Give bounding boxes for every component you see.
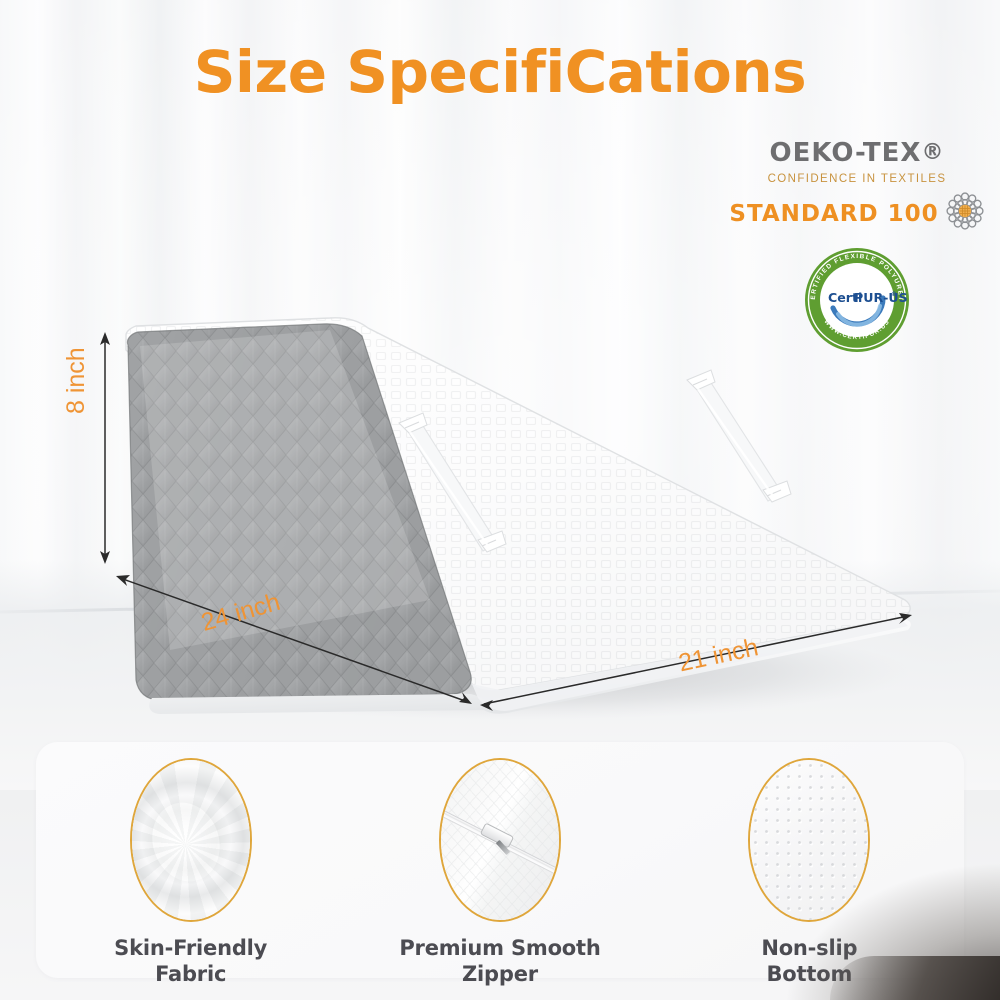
oeko-tex-standard-text: STANDARD 100 xyxy=(729,201,938,227)
feature-label-premium-smooth-zipper: Premium Smooth Zipper xyxy=(399,936,600,987)
quilted-fabric-texture xyxy=(441,760,559,920)
feature-label-line1: Premium Smooth xyxy=(399,936,600,962)
oeko-tex-flower-icon xyxy=(945,191,985,236)
feature-non-slip-bottom: Non-slip Bottom xyxy=(684,758,934,987)
feature-skin-friendly-fabric: Skin-Friendly Fabric xyxy=(66,758,316,987)
background-corner-accent xyxy=(830,956,1000,1000)
oeko-tex-name: OEKO-TEX® xyxy=(732,140,982,166)
certipur-brand-part2: PUR-US xyxy=(854,290,908,305)
non-slip-dot-texture xyxy=(750,760,868,920)
oeko-tex-standard-row: STANDARD 100 xyxy=(732,191,982,236)
feature-label-skin-friendly-fabric: Skin-Friendly Fabric xyxy=(114,936,267,987)
feature-image-skin-friendly-fabric xyxy=(130,758,252,922)
feature-label-line2: Fabric xyxy=(114,962,267,988)
fabric-swirl-texture xyxy=(132,760,250,920)
page-title: Size SpecifiCations xyxy=(0,38,1000,106)
feature-premium-smooth-zipper: Premium Smooth Zipper xyxy=(375,758,625,987)
oeko-tex-tagline: CONFIDENCE IN TEXTILES xyxy=(732,173,982,185)
dimension-label-height: 8 inch xyxy=(62,347,91,414)
feature-label-line1: Skin-Friendly xyxy=(114,936,267,962)
certipur-registered-icon: ® xyxy=(891,291,897,298)
product-infographic: Size SpecifiCations OEKO-TEX® CONFIDENCE… xyxy=(0,0,1000,1000)
oeko-tex-name-text: OEKO-TEX xyxy=(770,138,922,168)
feature-image-premium-smooth-zipper xyxy=(439,758,561,922)
certipur-us-badge: CONTAINS CERTIFIED FLEXIBLE POLYURETHANE… xyxy=(803,246,911,354)
feature-label-line2: Zipper xyxy=(399,962,600,988)
feature-highlights-panel: Skin-Friendly Fabric Premium Smooth Zipp… xyxy=(36,742,964,978)
feature-image-non-slip-bottom xyxy=(748,758,870,922)
registered-trademark-icon: ® xyxy=(921,140,944,165)
certification-badges: OEKO-TEX® CONFIDENCE IN TEXTILES STANDAR… xyxy=(732,140,982,354)
feature-label-line1: Non-slip xyxy=(761,936,857,962)
